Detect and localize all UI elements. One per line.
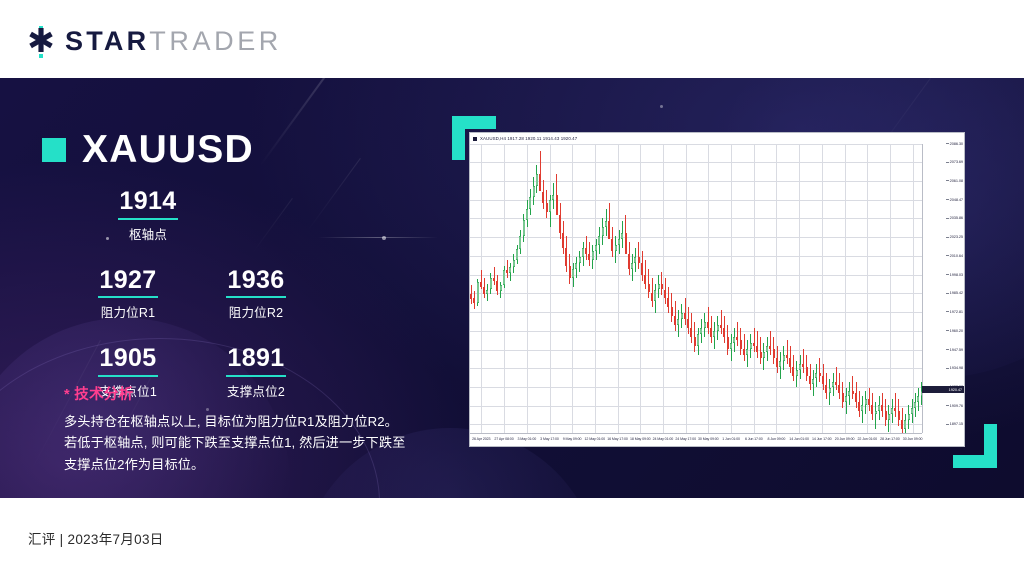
time-tick-label: 16 May 17:00 (607, 437, 628, 441)
page-title: XAUUSD (82, 130, 254, 169)
asterisk-logo-icon: ✱ (26, 27, 56, 57)
price-tick-label: 1947.59 (950, 348, 963, 352)
stat-label: 阻力位R2 (192, 302, 320, 321)
time-tick-label: 6 Jun 17:00 (745, 437, 763, 441)
price-tick-label: 2061.08 (950, 179, 963, 183)
stat-underline (98, 296, 158, 298)
time-tick-label: 30 Jun 09:00 (903, 437, 923, 441)
poster-root: ✱ STAR TRADER XAUUSD (0, 0, 1024, 576)
price-tick-label: 2073.69 (950, 160, 963, 164)
analysis-body: 多头持仓在枢轴点以上, 目标位为阻力位R1及阻力位R2。 若低于枢轴点, 则可能… (64, 411, 464, 475)
chart-title-text: XAUUSD,H4 1917.28 1920.11 1914.43 1920.4… (480, 136, 577, 141)
title-accent-square (42, 138, 66, 162)
price-tick-label: 1960.20 (950, 329, 963, 333)
time-tick-label: 20 Jun 09:00 (835, 437, 855, 441)
stat-resistance-2: 1936 阻力位R2 (192, 267, 320, 322)
spacer (64, 321, 394, 345)
price-tick-label: 1897.15 (950, 422, 963, 426)
time-tick-label: 3 May 17:00 (540, 437, 559, 441)
price-tick-label: 1985.42 (950, 291, 963, 295)
time-tick-label: 18 May 09:00 (630, 437, 651, 441)
pivot-stats: 1914 枢轴点 1927 阻力位R1 1936 阻力位R2 (64, 188, 394, 400)
time-tick-label: 9 May 09:00 (563, 437, 582, 441)
time-tick-label: 24 May 01:00 (653, 437, 674, 441)
page-footer: 汇评 | 2023年7月03日 (0, 498, 1024, 576)
instrument-title-row: XAUUSD (42, 130, 254, 169)
time-tick-label: 30 May 09:00 (698, 437, 719, 441)
decor-streak (259, 78, 331, 166)
price-tick-label: 2086.30 (950, 142, 963, 146)
stat-label: 阻力位R1 (64, 302, 192, 321)
stat-value: 1891 (192, 345, 320, 372)
price-tick-label: 1998.03 (950, 273, 963, 277)
analysis-line-3: 支撑点位2作为目标位。 (64, 454, 464, 475)
chart-title-icon (473, 137, 477, 141)
page-header: ✱ STAR TRADER (0, 0, 1024, 78)
time-tick-label: 12 May 01:00 (585, 437, 606, 441)
brand-name-light: TRADER (149, 26, 282, 57)
chart-zone: XAUUSD,H4 1917.28 1920.11 1914.43 1920.4… (452, 116, 997, 468)
technical-analysis: * 技术分析 多头持仓在枢轴点以上, 目标位为阻力位R1及阻力位R2。 若低于枢… (64, 383, 464, 475)
stat-underline (118, 218, 178, 220)
analysis-line-2: 若低于枢轴点, 则可能下跌至支撑点位1, 然后进一步下跌至 (64, 432, 464, 453)
time-tick-label: 28 Jun 17:00 (880, 437, 900, 441)
time-tick-label: 14 Jun 01:00 (789, 437, 809, 441)
brand-logo[interactable]: ✱ STAR TRADER (26, 26, 282, 57)
time-tick-label: 27 Apr 08:00 (494, 437, 513, 441)
stat-underline (226, 296, 286, 298)
stat-resistance-1: 1927 阻力位R1 (64, 267, 192, 322)
stat-value: 1936 (192, 267, 320, 294)
stats-row-resistance: 1927 阻力位R1 1936 阻力位R2 (64, 267, 394, 322)
time-tick-label: 1 Jun 01:00 (722, 437, 740, 441)
stat-pivot: 1914 枢轴点 (84, 188, 212, 243)
logo-accent-square-bottom (39, 54, 43, 58)
time-tick-label: 8 Jun 09:00 (768, 437, 786, 441)
stats-row-pivot: 1914 枢轴点 (64, 188, 394, 243)
stat-value: 1927 (64, 267, 192, 294)
chart-time-axis: 26 Apr 202327 Apr 08:003 May 01:003 May … (470, 433, 922, 446)
price-tick-label: 2010.64 (950, 254, 963, 258)
footer-caption: 汇评 | 2023年7月03日 (28, 528, 164, 548)
logo-asterisk-glyph: ✱ (26, 27, 56, 57)
price-tick-label: 1909.76 (950, 404, 963, 408)
price-tick-label: 1934.98 (950, 366, 963, 370)
chart-window-title: XAUUSD,H4 1917.28 1920.11 1914.43 1920.4… (470, 133, 964, 144)
analysis-line-1: 多头持仓在枢轴点以上, 目标位为阻力位R1及阻力位R2。 (64, 411, 464, 432)
decor-dot (660, 105, 663, 108)
stat-value: 1914 (84, 188, 212, 215)
time-tick-label: 3 May 01:00 (517, 437, 536, 441)
chart-window[interactable]: XAUUSD,H4 1917.28 1920.11 1914.43 1920.4… (469, 132, 965, 447)
price-tick-label: 2035.86 (950, 216, 963, 220)
stat-underline (226, 375, 286, 377)
analysis-heading: * 技术分析 (64, 383, 464, 404)
spacer (64, 243, 394, 267)
brand-wordmark: STAR TRADER (65, 26, 282, 57)
stat-value: 1905 (64, 345, 192, 372)
brand-name-bold: STAR (65, 26, 149, 57)
time-tick-label: 22 Jun 01:00 (858, 437, 878, 441)
main-panel: XAUUSD 1914 枢轴点 1927 阻力位R1 (0, 78, 1024, 498)
time-tick-label: 14 Jun 17:00 (812, 437, 832, 441)
stat-underline (98, 375, 158, 377)
price-tick-label: 1972.81 (950, 310, 963, 314)
price-tick-label: 2048.47 (950, 198, 963, 202)
time-tick-label: 26 Apr 2023 (472, 437, 490, 441)
time-tick-label: 24 May 17:00 (675, 437, 696, 441)
chart-plot-area[interactable] (470, 144, 922, 433)
stat-label: 枢轴点 (84, 224, 212, 243)
price-tick-label: 2023.25 (950, 235, 963, 239)
live-price-label: 1920.47 (922, 386, 964, 393)
chart-price-axis: 2086.302073.692061.082048.472035.862023.… (922, 144, 964, 433)
candlestick-series (470, 144, 922, 433)
